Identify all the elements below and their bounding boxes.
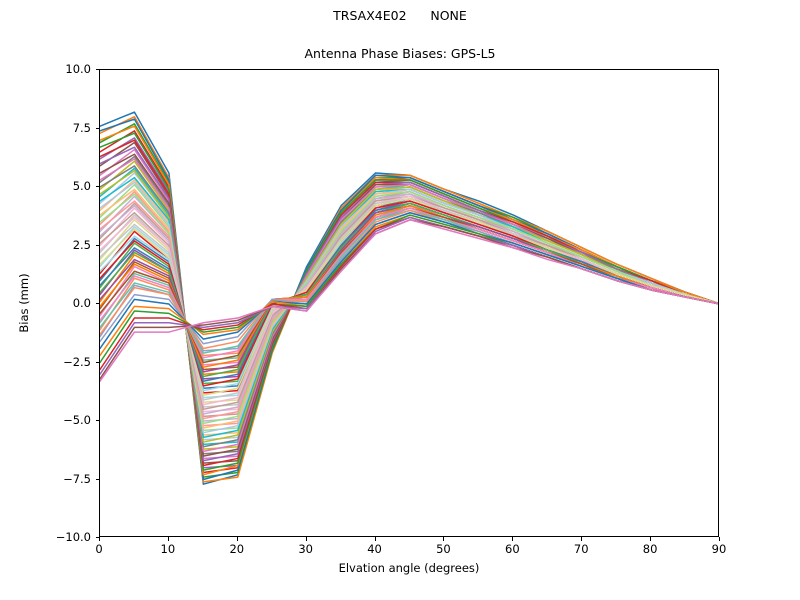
data-line: [100, 161, 719, 449]
y-axis-label: Bias (mm): [17, 273, 31, 332]
x-axis-label: Elvation angle (degrees): [99, 561, 719, 575]
data-line: [100, 213, 719, 344]
x-tick-label: 30: [286, 542, 326, 556]
data-line: [100, 117, 719, 482]
data-line: [100, 124, 719, 477]
data-line: [100, 178, 719, 438]
x-tick-label: 60: [492, 542, 532, 556]
x-tick-label: 70: [561, 542, 601, 556]
x-tick-mark: [719, 537, 720, 541]
x-tick-label: 10: [148, 542, 188, 556]
x-tick-mark: [237, 537, 238, 541]
x-tick-mark: [99, 537, 100, 541]
data-line: [100, 112, 719, 484]
x-tick-label: 40: [355, 542, 395, 556]
x-tick-mark: [443, 537, 444, 541]
x-tick-label: 90: [699, 542, 739, 556]
data-line: [100, 208, 719, 362]
x-tick-label: 50: [423, 542, 463, 556]
x-tick-label: 0: [79, 542, 119, 556]
data-line: [100, 168, 719, 444]
x-tick-label: 20: [217, 542, 257, 556]
lines-canvas: [100, 70, 719, 537]
data-line: [100, 133, 719, 470]
data-line: [100, 143, 719, 464]
x-tick-mark: [375, 537, 376, 541]
x-tick-mark: [650, 537, 651, 541]
plot-area: [99, 69, 719, 537]
matplotlib-figure: TRSAX4E02 NONE Antenna Phase Biases: GPS…: [0, 0, 800, 600]
data-line: [100, 119, 719, 479]
x-tick-label: 80: [630, 542, 670, 556]
x-tick-mark: [306, 537, 307, 541]
x-tick-mark: [512, 537, 513, 541]
data-line: [100, 126, 719, 475]
x-tick-mark: [581, 537, 582, 541]
x-tick-mark: [168, 537, 169, 541]
